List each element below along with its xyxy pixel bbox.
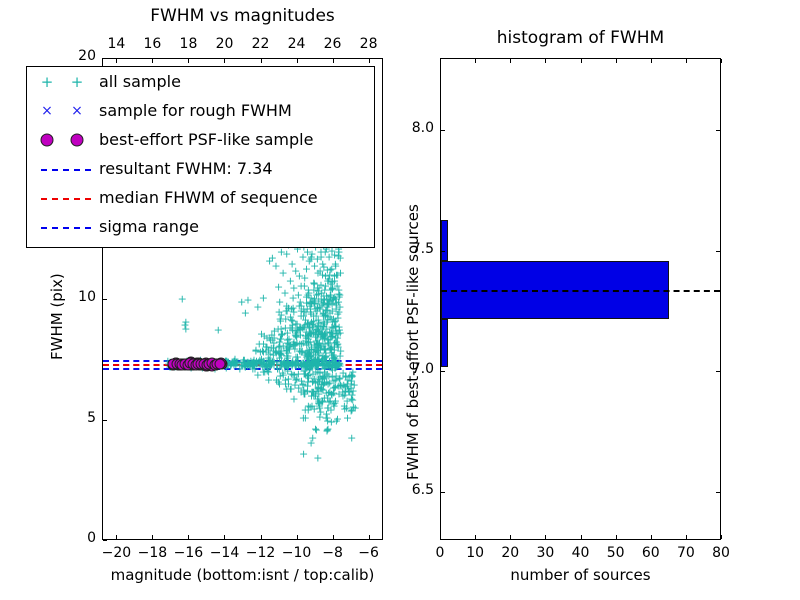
legend-marker: ++ <box>33 72 99 92</box>
data-point-plus: + <box>345 385 354 398</box>
median-fwhm-line <box>441 290 720 292</box>
hist-x-tick-label: 80 <box>701 545 741 561</box>
hist-x-tick-label: 30 <box>525 545 565 561</box>
hist-y-tick-label: 8.0 <box>398 120 434 136</box>
hist-x-tick <box>651 535 652 539</box>
hist-y-tick <box>441 492 445 493</box>
y-tick-label: 0 <box>60 530 96 546</box>
data-point-circle <box>215 359 226 370</box>
right-panel-plot-area <box>441 59 720 539</box>
plus-icon: + <box>71 73 84 91</box>
hist-x-tick-top <box>510 59 511 63</box>
y-tick <box>103 540 107 541</box>
legend-label: resultant FWHM: 7.34 <box>99 159 273 178</box>
x-tick-label: −16 <box>168 545 208 561</box>
x-tick-label: −10 <box>277 545 317 561</box>
data-point-plus: + <box>264 373 273 386</box>
right-panel-xlabel: number of sources <box>440 566 721 584</box>
hist-y-tick <box>441 130 445 131</box>
x-tick-label-top: 22 <box>241 36 281 52</box>
dashdot-line-icon <box>41 227 91 229</box>
x-tick-label-top: 14 <box>96 36 136 52</box>
legend-entry[interactable]: sigma range <box>27 212 374 241</box>
cross-icon: × <box>41 103 53 119</box>
data-point-plus: + <box>280 286 289 299</box>
data-point-plus: + <box>333 359 342 372</box>
data-point-plus: + <box>313 451 322 464</box>
data-point-plus: + <box>307 436 316 449</box>
y-tick-label: 20 <box>60 48 96 64</box>
hist-x-tick-top <box>616 59 617 63</box>
x-tick-label: −18 <box>132 545 172 561</box>
data-point-plus: + <box>293 350 302 363</box>
x-tick <box>261 535 262 539</box>
left-panel-title: FWHM vs magnitudes <box>102 6 383 26</box>
cross-icon: × <box>71 103 83 119</box>
hist-x-tick-top <box>686 59 687 63</box>
hist-y-tick <box>441 251 445 252</box>
data-point-plus: + <box>334 306 343 319</box>
hist-x-tick-label: 50 <box>596 545 636 561</box>
hist-x-tick <box>510 535 511 539</box>
x-tick-top <box>188 59 189 63</box>
legend-marker <box>33 217 99 237</box>
data-point-plus: + <box>306 328 315 341</box>
hist-x-tick-top <box>545 59 546 63</box>
x-tick-top <box>261 59 262 63</box>
left-panel-ylabel: FWHM (pix) <box>48 273 66 360</box>
right-panel-ylabel: FWHM of best-effort PSF-like sources <box>404 204 422 480</box>
x-tick-top <box>152 59 153 63</box>
plus-icon: + <box>41 73 54 91</box>
x-tick-top <box>333 59 334 63</box>
legend-label: all sample <box>99 72 181 91</box>
hist-x-tick-top <box>721 59 722 63</box>
x-tick <box>188 535 189 539</box>
hist-x-tick-label: 10 <box>455 545 495 561</box>
data-point-plus: + <box>178 292 187 305</box>
hist-x-tick-label: 0 <box>420 545 460 561</box>
x-tick-label-top: 20 <box>204 36 244 52</box>
data-point-plus: + <box>320 362 329 375</box>
hist-x-tick <box>440 535 441 539</box>
x-tick <box>116 535 117 539</box>
histogram-bar <box>441 220 448 261</box>
data-point-plus: + <box>297 385 306 398</box>
right-panel-title: histogram of FWHM <box>440 28 721 48</box>
data-point-plus: + <box>230 356 239 369</box>
data-point-plus: + <box>302 361 311 374</box>
x-tick <box>224 535 225 539</box>
data-point-plus: + <box>257 353 266 366</box>
hist-y-tick-right <box>716 492 720 493</box>
x-tick-label-top: 16 <box>132 36 172 52</box>
hist-x-tick <box>616 535 617 539</box>
dashed-line-icon <box>41 198 91 200</box>
x-tick-top <box>116 59 117 63</box>
hist-x-tick-top <box>581 59 582 63</box>
data-point-plus: + <box>308 374 317 387</box>
data-point-plus: + <box>266 359 275 372</box>
data-point-plus: + <box>324 250 333 263</box>
x-tick <box>369 535 370 539</box>
x-tick-top <box>369 59 370 63</box>
data-point-plus: + <box>241 307 250 320</box>
hist-y-tick-label: 6.5 <box>398 482 434 498</box>
hist-x-tick <box>686 535 687 539</box>
legend-label: best-effort PSF-like sample <box>99 130 313 149</box>
x-tick-label: −12 <box>241 545 281 561</box>
data-point-plus: + <box>253 368 262 381</box>
legend-entry[interactable]: resultant FWHM: 7.34 <box>27 154 374 183</box>
data-point-plus: + <box>259 291 268 304</box>
hist-x-tick-top <box>651 59 652 63</box>
legend-entry[interactable]: ××sample for rough FWHM <box>27 96 374 125</box>
legend-label: sample for rough FWHM <box>99 101 292 120</box>
hist-x-tick-label: 20 <box>490 545 530 561</box>
data-point-plus: + <box>269 331 278 344</box>
y-tick <box>103 299 107 300</box>
y-tick <box>103 420 107 421</box>
hist-x-tick <box>545 535 546 539</box>
hist-x-tick <box>475 535 476 539</box>
data-point-plus: + <box>289 292 298 305</box>
hist-y-tick-right <box>716 371 720 372</box>
figure-canvas: FWHM vs magnitudes 1416182022242628 ++++… <box>0 0 800 600</box>
data-point-plus: + <box>299 448 308 461</box>
dashed-line-icon <box>41 169 91 171</box>
legend-marker: ×× <box>33 101 99 121</box>
y-tick-label: 5 <box>60 410 96 426</box>
data-point-plus: + <box>282 304 291 317</box>
data-point-plus: + <box>257 327 266 340</box>
data-point-plus: + <box>275 351 284 364</box>
x-tick-top <box>224 59 225 63</box>
legend-box: ++all sample××sample for rough FWHMbest-… <box>26 66 375 248</box>
x-tick-top <box>297 59 298 63</box>
hist-x-tick <box>581 535 582 539</box>
legend-label: median FHWM of sequence <box>99 188 318 207</box>
left-panel-xlabel: magnitude (bottom:isnt / top:calib) <box>102 566 383 584</box>
x-tick-label-top: 26 <box>313 36 353 52</box>
right-panel-axes <box>440 58 721 540</box>
hist-y-tick <box>441 371 445 372</box>
data-point-plus: + <box>340 400 349 413</box>
data-point-plus: + <box>311 349 320 362</box>
legend-label: sigma range <box>99 217 199 236</box>
data-point-plus: + <box>312 424 321 437</box>
data-point-plus: + <box>315 281 324 294</box>
x-tick-label-top: 28 <box>349 36 389 52</box>
x-tick-label: −20 <box>96 545 136 561</box>
filled-circle-icon <box>41 133 54 146</box>
data-point-plus: + <box>334 387 343 400</box>
data-point-plus: + <box>333 327 342 340</box>
x-tick-label: −6 <box>349 545 389 561</box>
x-tick-label-top: 24 <box>277 36 317 52</box>
hist-x-tick-label: 70 <box>666 545 706 561</box>
data-point-plus: + <box>347 431 356 444</box>
hist-x-tick-label: 60 <box>631 545 671 561</box>
data-point-plus: + <box>314 316 323 329</box>
x-tick-label: −8 <box>313 545 353 561</box>
hist-y-tick-right <box>716 251 720 252</box>
hist-x-tick-top <box>475 59 476 63</box>
data-point-plus: + <box>243 294 252 307</box>
histogram-bar <box>441 319 448 367</box>
data-point-plus: + <box>214 324 223 337</box>
filled-circle-icon <box>71 133 84 146</box>
x-tick-label-top: 18 <box>168 36 208 52</box>
data-point-plus: + <box>335 289 344 302</box>
legend-marker <box>33 188 99 208</box>
data-point-plus: + <box>351 402 360 415</box>
legend-marker <box>33 159 99 179</box>
legend-entry[interactable]: median FHWM of sequence <box>27 183 374 212</box>
x-tick-label: −14 <box>204 545 244 561</box>
legend-entry[interactable]: ++all sample <box>27 67 374 96</box>
y-tick <box>103 58 107 59</box>
hist-y-tick-right <box>716 130 720 131</box>
data-point-plus: + <box>322 425 331 438</box>
hist-x-tick <box>721 535 722 539</box>
hist-x-tick-top <box>440 59 441 63</box>
x-tick <box>333 535 334 539</box>
data-point-plus: + <box>180 319 189 332</box>
data-point-plus: + <box>284 360 293 373</box>
hist-x-tick-label: 40 <box>561 545 601 561</box>
legend-entry[interactable]: best-effort PSF-like sample <box>27 125 374 154</box>
legend-marker <box>33 130 99 150</box>
x-tick <box>297 535 298 539</box>
x-tick <box>152 535 153 539</box>
data-point-plus: + <box>239 354 248 367</box>
